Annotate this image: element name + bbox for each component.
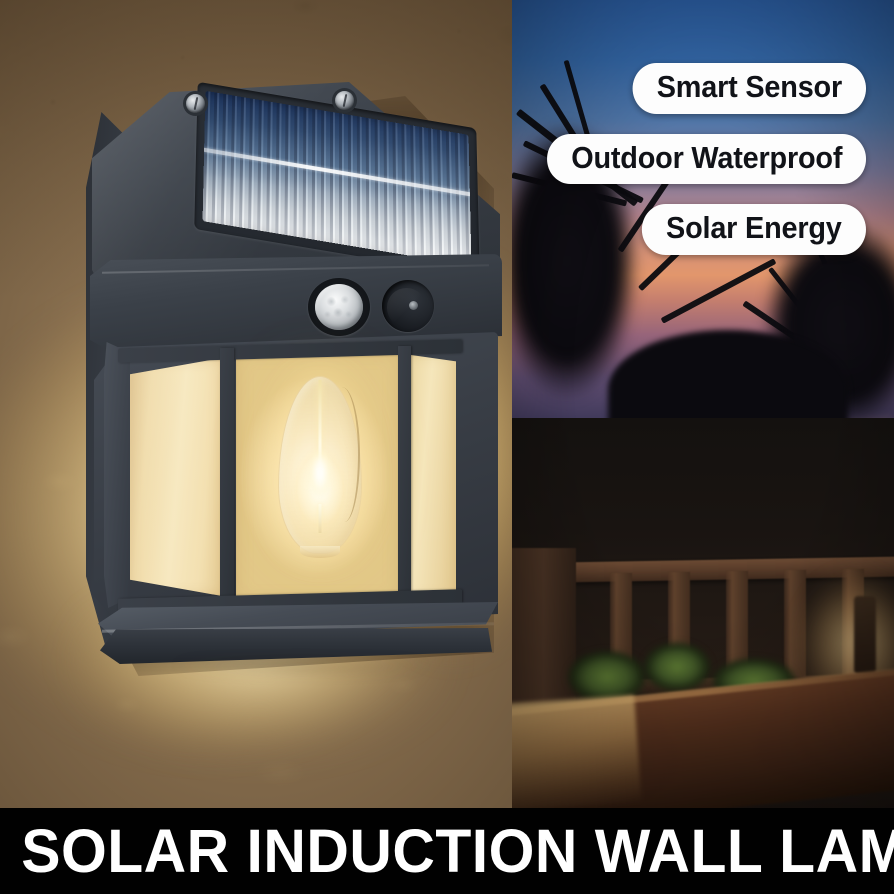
edison-filament-bulb (278, 376, 362, 554)
base-plate (86, 602, 506, 676)
base-contact-shadow (126, 664, 476, 686)
mode-button-highlight (387, 288, 425, 326)
glass-panel-left-sheen (128, 358, 222, 596)
wall-lamp-fixture (86, 82, 506, 672)
feature-badge-smart-sensor[interactable]: Smart Sensor (632, 63, 866, 114)
mounting-screw (335, 91, 354, 110)
bottom-banner: SOLAR INDUCTION WALL LAMP (0, 808, 894, 894)
feature-badge-outdoor-waterproof[interactable]: Outdoor Waterproof (547, 134, 866, 185)
mounting-screw (186, 94, 205, 113)
pir-fresnel-facets (315, 284, 363, 330)
mode-button-indicator (409, 301, 418, 310)
product-marketing-image: Smart Sensor Outdoor Waterproof Solar En… (0, 0, 894, 894)
pir-motion-sensor (308, 278, 370, 336)
feature-badge-solar-energy[interactable]: Solar Energy (642, 204, 866, 255)
pir-sensor-dome (315, 284, 363, 330)
feature-badge-list: Smart Sensor Outdoor Waterproof Solar En… (523, 63, 866, 255)
bulb-filament-glow (305, 440, 335, 506)
bulb-reflection-arc (330, 387, 360, 522)
bulb-base-neck (300, 546, 340, 558)
base-front-face (100, 628, 496, 664)
lantern-mullion-left (220, 348, 234, 606)
lantern-mullion-right (398, 346, 411, 604)
product-title: SOLAR INDUCTION WALL LAMP (0, 821, 894, 882)
glass-panel-right (404, 354, 456, 598)
screw-slot (193, 97, 198, 110)
lantern-left-edge (104, 342, 130, 608)
lamp-product-photo (0, 0, 512, 808)
lantern-glass-housing (94, 332, 498, 632)
mode-button[interactable] (382, 280, 434, 332)
screw-slot (342, 94, 347, 107)
bulb-filament-tail (319, 504, 322, 532)
